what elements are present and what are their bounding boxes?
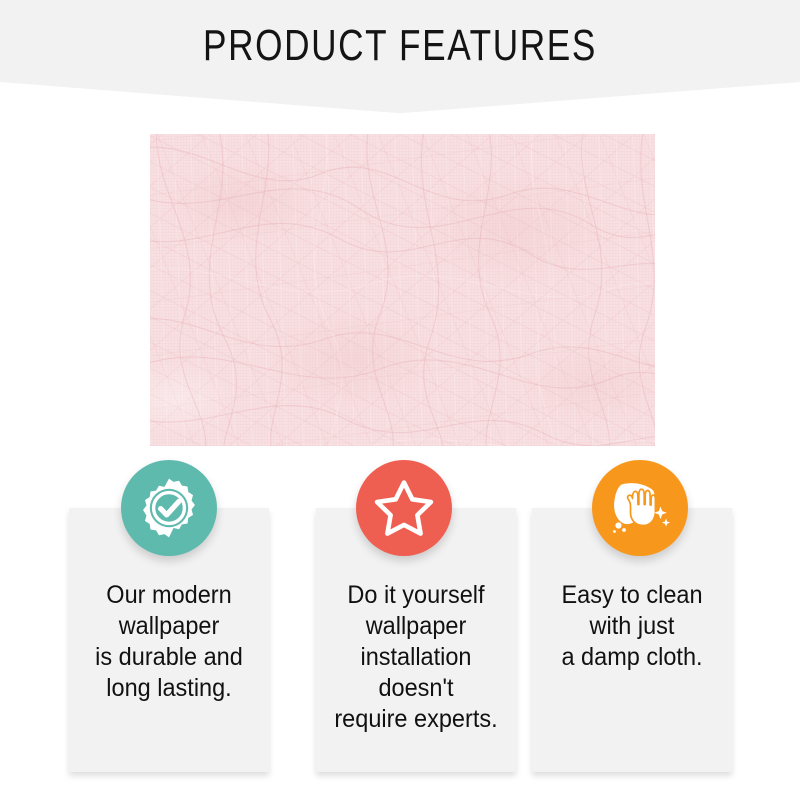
hand-wiping-cloth-icon <box>605 473 675 543</box>
feature-card-text: Our modern wallpaper is durable and long… <box>75 580 263 704</box>
verified-badge-check-icon <box>137 476 201 540</box>
feature-card-text: Do it yourself wallpaper installation do… <box>322 580 510 735</box>
feature-icon-diy <box>356 460 452 556</box>
wallpaper-fiber-overlay <box>150 134 655 446</box>
feature-icon-quality <box>121 460 217 556</box>
feature-icon-clean <box>592 460 688 556</box>
feature-card-text: Easy to clean with just a damp cloth. <box>538 580 726 673</box>
page-title: PRODUCT FEATURES <box>80 21 720 71</box>
star-icon <box>373 477 435 539</box>
product-features-infographic: PRODUCT FEATURES <box>0 0 800 800</box>
hero-product-image <box>150 134 655 446</box>
